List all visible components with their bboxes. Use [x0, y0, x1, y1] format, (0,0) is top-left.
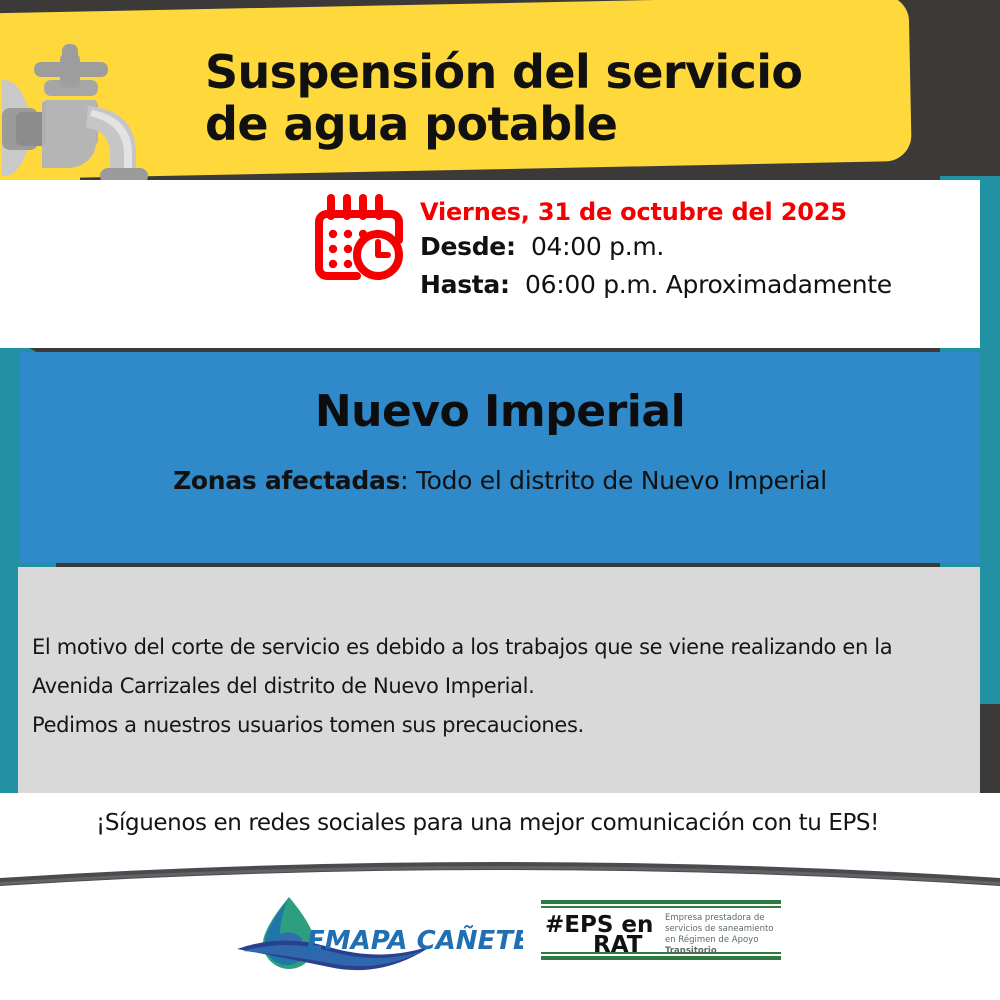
notice-line-1: El motivo del corte de servicio es debid…: [32, 628, 948, 667]
notice-line-2: Avenida Carrizales del distrito de Nuevo…: [32, 667, 948, 706]
svg-text:Transitorio: Transitorio: [665, 946, 717, 956]
poster-canvas: Suspensión del servicio de agua potable: [0, 0, 1000, 1000]
schedule-text-block: Viernes, 31 de octubre del 2025 Desde: 0…: [420, 196, 950, 304]
from-time-row: Desde: 04:00 p.m.: [420, 228, 950, 266]
until-time: 06:00 p.m. Aproximadamente: [525, 270, 892, 299]
footer-slogan: ¡Síguenos en redes sociales para una mej…: [0, 810, 975, 836]
svg-text:servicios de saneamiento: servicios de saneamiento: [665, 924, 774, 934]
page-title: Suspensión del servicio de agua potable: [205, 46, 905, 150]
affected-zones-value: : Todo el distrito de Nuevo Imperial: [400, 466, 827, 495]
until-time-row: Hasta: 06:00 p.m. Aproximadamente: [420, 266, 950, 304]
from-label: Desde:: [420, 232, 516, 261]
notice-body-text: El motivo del corte de servicio es debid…: [32, 628, 948, 745]
notice-line-3: Pedimos a nuestros usuarios tomen sus pr…: [32, 706, 948, 745]
emapa-canete-logo: EMAPA CAÑETE S.A.: [233, 893, 523, 977]
affected-zones: Zonas afectadas: Todo el distrito de Nue…: [20, 466, 980, 495]
affected-zones-label: Zonas afectadas: [173, 466, 400, 495]
title-line-1: Suspensión del servicio: [205, 45, 802, 99]
until-label: Hasta:: [420, 270, 510, 299]
district-name: Nuevo Imperial: [20, 386, 980, 437]
from-time: 04:00 p.m.: [531, 232, 664, 261]
svg-text:en Régimen de Apoyo: en Régimen de Apoyo: [665, 934, 758, 945]
district-panel: [20, 352, 980, 563]
calendar-clock-icon: [313, 192, 405, 284]
footer-arc-divider: [0, 838, 1000, 888]
svg-text:RAT: RAT: [593, 932, 643, 958]
suspension-date: Viernes, 31 de octubre del 2025: [420, 196, 950, 228]
title-line-2: de agua potable: [205, 98, 905, 150]
svg-text:EMAPA CAÑETE S.A.: EMAPA CAÑETE S.A.: [307, 924, 523, 956]
svg-text:Empresa prestadora de: Empresa prestadora de: [665, 913, 764, 923]
eps-en-rat-logo: #EPS en RAT Empresa prestadora de servic…: [537, 898, 787, 962]
